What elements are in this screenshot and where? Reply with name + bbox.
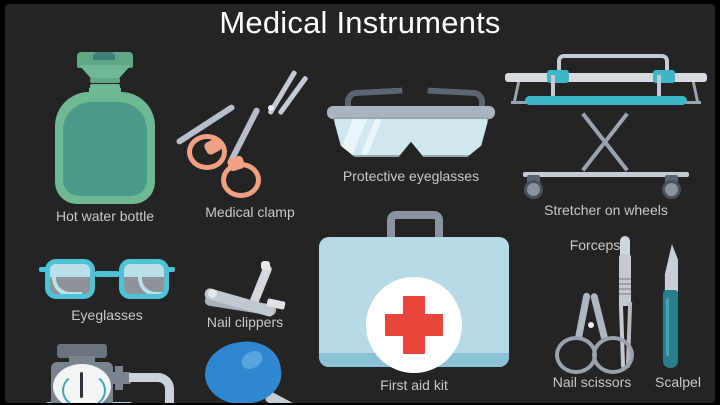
nail-clippers-icon (197, 262, 291, 320)
clamp-ring-left (187, 134, 227, 170)
gauge-scale-arc (62, 372, 106, 403)
pressure-gauge-icon (35, 344, 165, 403)
kit-handle (387, 211, 443, 239)
medical-instruments-poster: Medical Instruments Hot water bottle (0, 0, 720, 405)
bottle-cap-top (93, 52, 115, 60)
eyeglasses-lens-right (119, 259, 169, 299)
medical-clamp-icon (185, 64, 315, 194)
item-label-stretcher-on-wheels: Stretcher on wheels (521, 202, 691, 218)
bottle-neck (79, 65, 131, 79)
eyeglasses-lens-left-arc (52, 266, 82, 296)
page-title: Medical Instruments (5, 5, 715, 41)
scissors-ring-right (592, 336, 634, 374)
hot-water-bottle-icon (49, 52, 161, 204)
item-label-scalpel: Scalpel (638, 374, 715, 390)
scalpel-blade (662, 244, 678, 296)
scissors-pivot (588, 322, 594, 328)
clamp-shank-right (227, 107, 260, 165)
scalpel-icon (655, 244, 687, 368)
first-aid-kit-icon (319, 211, 509, 374)
kit-cross-horizontal (385, 314, 443, 336)
item-label-nail-clippers: Nail clippers (189, 314, 301, 330)
eyeglasses-icon (45, 259, 169, 305)
enema-bulb-icon (205, 342, 313, 403)
scissors-blade-left (575, 292, 591, 338)
eyeglasses-lens-left (45, 259, 95, 299)
item-label-eyeglasses: Eyeglasses (39, 307, 175, 323)
scissors-blade-right (590, 293, 608, 339)
item-label-forceps: Forceps (555, 237, 635, 253)
clippers-lever-tip (261, 261, 270, 270)
scalpel-handle-highlight (666, 298, 669, 356)
protective-eyeglasses-icon (327, 89, 495, 159)
gauge-hose (129, 373, 174, 403)
clamp-ring-right (221, 162, 261, 198)
stretcher-wheel-right (662, 180, 681, 199)
stretcher-icon (505, 54, 707, 194)
forceps-grip-line-1 (619, 278, 631, 280)
nail-scissors-icon (555, 292, 629, 368)
gauge-needle (80, 372, 83, 398)
clippers-pivot-pin (208, 289, 217, 298)
goggles-lens-edge (333, 117, 489, 157)
item-label-hot-water-bottle: Hot water bottle (19, 208, 191, 224)
bottle-ring-upper (90, 78, 120, 83)
bottle-body-inner (63, 102, 147, 196)
eyeglasses-lens-right-arc (138, 266, 168, 296)
item-label-protective-eyeglasses: Protective eyeglasses (323, 168, 499, 184)
stretcher-mattress (525, 96, 687, 105)
forceps-grip-line-2 (619, 283, 631, 285)
eyeglasses-bridge (94, 271, 120, 277)
stretcher-side-right (692, 81, 700, 103)
stretcher-top-rail (505, 73, 707, 82)
forceps-grip-line-3 (619, 288, 631, 290)
item-label-nail-scissors: Nail scissors (536, 374, 648, 390)
scissors-ring-left (555, 336, 597, 374)
stretcher-wheel-left (524, 180, 543, 199)
stretcher-side-left (513, 81, 521, 103)
item-label-first-aid-kit: First aid kit (342, 377, 486, 393)
clamp-pivot (268, 105, 274, 111)
poster-panel: Medical Instruments Hot water bottle (5, 4, 715, 403)
item-label-medical-clamp: Medical clamp (187, 204, 313, 220)
